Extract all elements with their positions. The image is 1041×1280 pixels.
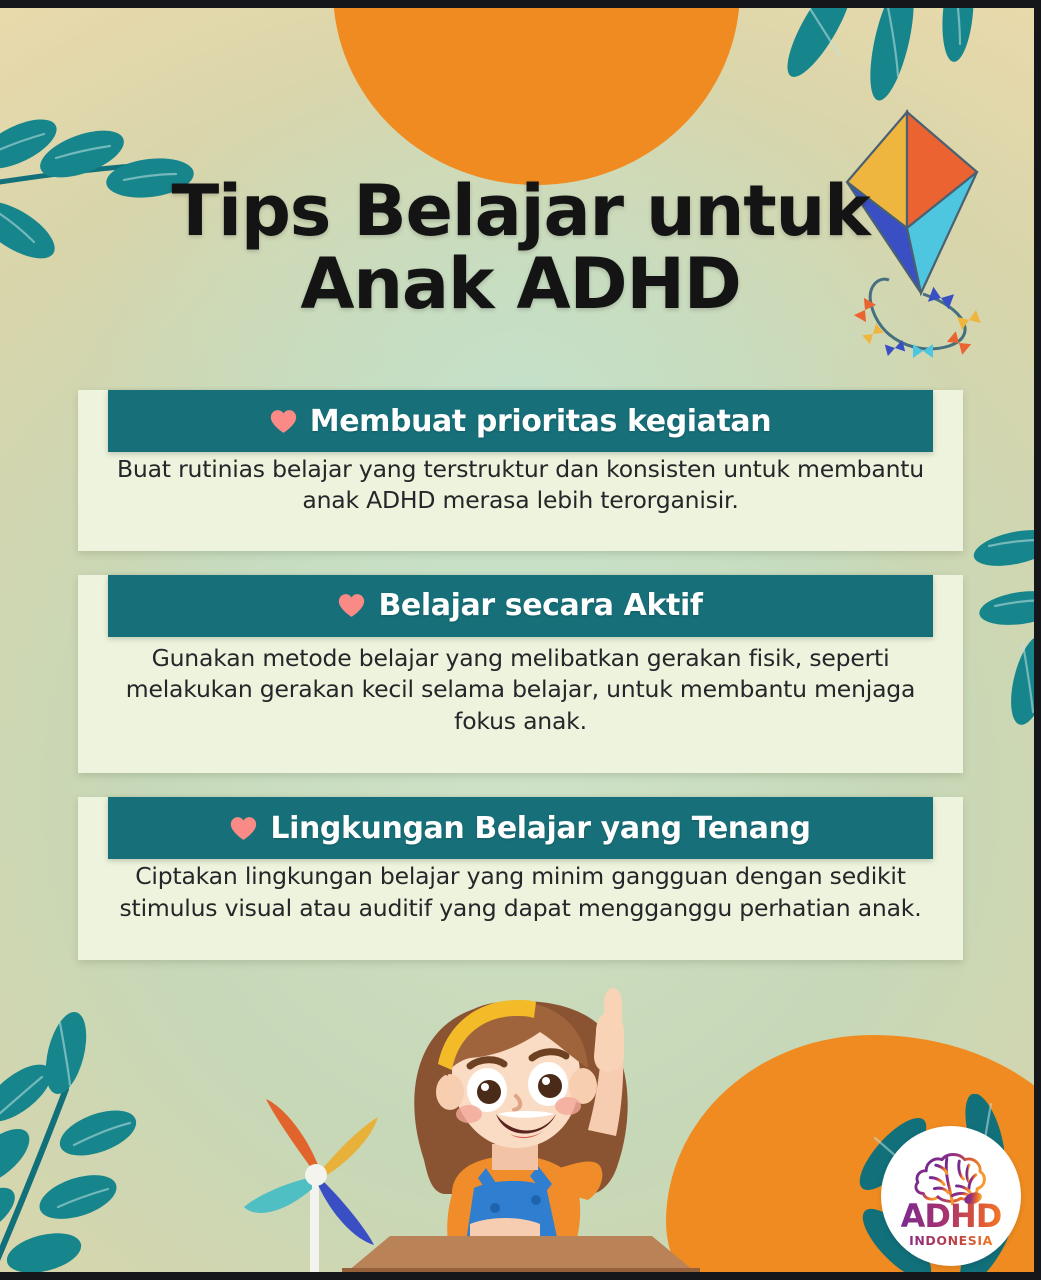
leaf-branch-icon-top-right — [780, 0, 1030, 114]
heart-icon — [338, 593, 365, 618]
title-line-2: Anak ADHD — [0, 251, 1041, 318]
tip-card: Lingkungan Belajar yang Tenang Ciptakan … — [0, 797, 1041, 960]
tip-card: Membuat prioritas kegiatan Buat rutinias… — [0, 390, 1041, 551]
heart-icon — [270, 409, 297, 434]
tips-card-list: Membuat prioritas kegiatan Buat rutinias… — [0, 390, 1041, 984]
tip-card-heading: Membuat prioritas kegiatan — [310, 404, 772, 439]
tip-card-header: Belajar secara Aktif — [108, 575, 933, 637]
orange-circle-shape-top — [333, 0, 740, 185]
tip-card-heading: Lingkungan Belajar yang Tenang — [270, 811, 810, 846]
infographic-poster: Tips Belajar untuk Anak ADHD Membuat pri… — [0, 0, 1041, 1280]
logo-text-indonesia: INDONESIA — [909, 1233, 993, 1248]
tip-card-heading: Belajar secara Aktif — [378, 588, 702, 623]
frame-edge-right — [1034, 0, 1041, 1280]
heart-icon — [230, 816, 257, 841]
page-title: Tips Belajar untuk Anak ADHD — [0, 178, 1041, 318]
tip-card-header: Lingkungan Belajar yang Tenang — [108, 797, 933, 859]
frame-edge-bottom — [0, 1272, 1041, 1280]
logo-text-adhd: ADHD — [901, 1200, 1002, 1232]
girl-raising-hand-illustration — [0, 980, 1041, 1280]
tip-card: Belajar secara Aktif Gunakan metode bela… — [0, 575, 1041, 773]
adhd-indonesia-logo: ADHD INDONESIA — [881, 1126, 1021, 1266]
frame-edge-top — [0, 0, 1041, 8]
tip-card-header: Membuat prioritas kegiatan — [108, 390, 933, 452]
title-line-1: Tips Belajar untuk — [0, 178, 1041, 245]
